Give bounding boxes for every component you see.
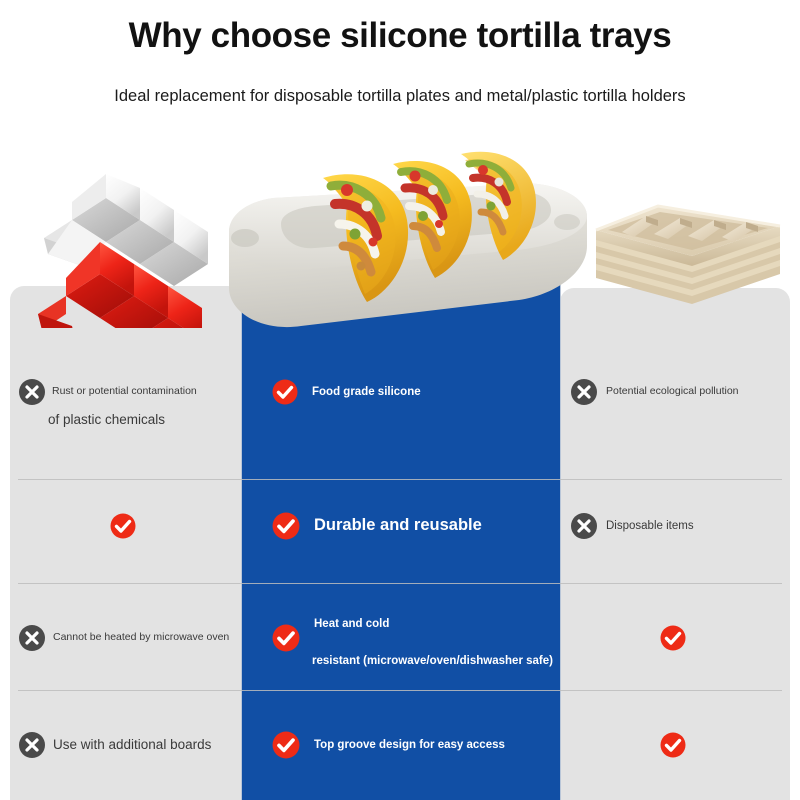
row-3-center-text-line1: Heat and cold <box>314 616 389 633</box>
disposable-pulp-tortilla-trays-image <box>588 196 788 318</box>
feature-row-1: Rust or potential contamination of plast… <box>0 372 800 412</box>
x-icon <box>570 512 598 540</box>
row-divider-1 <box>18 479 782 480</box>
row-1-cell-silicone: Food grade silicone <box>242 372 590 412</box>
row-2-cell-disposable: Disposable items <box>560 508 800 544</box>
check-icon <box>660 732 686 758</box>
row-1-right-text: Potential ecological pollution <box>606 384 739 399</box>
row-1-left-text-line2: of plastic chemicals <box>48 410 165 430</box>
row-3-left-text: Cannot be heated by microwave oven <box>53 630 229 645</box>
page-title: Why choose silicone tortilla trays <box>0 16 800 56</box>
feature-row-4: Use with additional boards Top groove de… <box>0 726 800 764</box>
row-1-center-text: Food grade silicone <box>312 384 421 401</box>
check-icon <box>660 625 686 651</box>
row-3-center-text-line2: resistant (microwave/oven/dishwasher saf… <box>312 653 553 670</box>
row-2-cell-silicone: Durable and reusable <box>242 508 590 544</box>
check-icon <box>272 512 300 540</box>
row-4-cell-disposable <box>560 726 800 764</box>
row-4-cell-metal-plastic: Use with additional boards <box>10 726 250 764</box>
feature-row-2: Durable and reusable Disposable items <box>0 508 800 544</box>
check-icon <box>110 513 136 539</box>
x-icon <box>18 624 46 652</box>
x-icon <box>18 378 46 406</box>
metal-and-plastic-taco-holders-image <box>28 168 243 328</box>
row-divider-3 <box>18 690 782 691</box>
row-1-cell-disposable: Potential ecological pollution <box>560 372 800 412</box>
infographic-page: Why choose silicone tortilla trays Ideal… <box>0 0 800 800</box>
page-subtitle: Ideal replacement for disposable tortill… <box>0 87 800 106</box>
row-4-cell-silicone: Top groove design for easy access <box>242 726 590 764</box>
row-2-center-text: Durable and reusable <box>314 514 482 538</box>
feature-row-3: Cannot be heated by microwave oven Heat … <box>0 618 800 658</box>
row-4-center-text: Top groove design for easy access <box>314 737 505 754</box>
check-icon <box>272 731 300 759</box>
row-4-left-text: Use with additional boards <box>53 735 211 755</box>
silicone-tortilla-tray-with-tacos-image <box>215 120 605 360</box>
x-icon <box>570 378 598 406</box>
column-panel-disposable <box>560 288 790 800</box>
row-3-cell-metal-plastic: Cannot be heated by microwave oven <box>10 618 250 658</box>
row-3-cell-disposable <box>560 618 800 658</box>
row-1-left-text-line1: Rust or potential contamination <box>52 384 197 399</box>
x-icon <box>18 731 46 759</box>
check-icon <box>272 379 298 405</box>
row-2-right-text: Disposable items <box>606 518 694 535</box>
row-1-cell-metal-plastic-line2: of plastic chemicals <box>10 406 280 434</box>
row-divider-2 <box>18 583 782 584</box>
